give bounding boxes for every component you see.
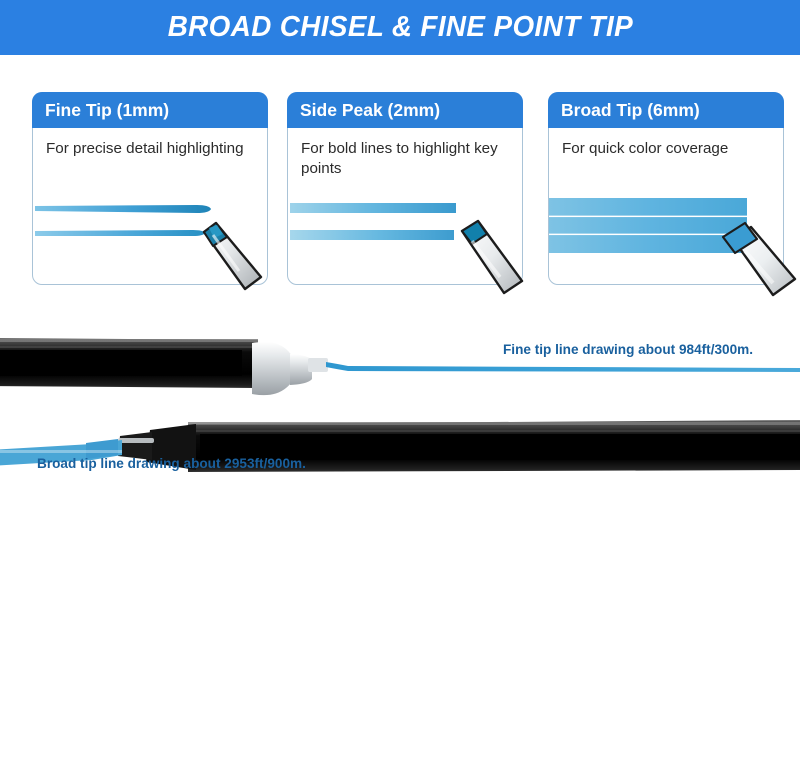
fine-marker-subtext: MADE IN CHINA TWIN MARKER [0, 632, 6, 648]
broad-marker-tip-label: BROAD [478, 752, 513, 762]
card-header-fine-tip: Fine Tip (1mm) [32, 92, 268, 128]
made-in-china-text: MADE IN CHINA [0, 640, 6, 648]
caption-fine-tip: Fine tip line drawing about 984ft/300m. [503, 342, 753, 357]
card-title: Broad Tip (6mm) [561, 100, 700, 121]
caption-broad-tip: Broad tip line drawing about 2953ft/900m… [37, 456, 306, 471]
made-in-china-text: MADE IN CHINA [480, 743, 590, 751]
twin-marker-text: TWIN MARKER [0, 632, 6, 640]
broad-tip-glyph-icon [458, 743, 478, 763]
card-description: For precise detail highlighting [46, 139, 258, 159]
card-header-side-peak: Side Peak (2mm) [287, 92, 523, 128]
card-description: For bold lines to highlight key points [301, 139, 513, 179]
page-title: BROAD CHISEL & FINE POINT TIP [167, 11, 632, 44]
card-header-broad-tip: Broad Tip (6mm) [548, 92, 784, 128]
side-peak-stroke-svg [288, 180, 524, 284]
stroke-illustration-fine [33, 180, 269, 284]
stroke-illustration-side-peak [288, 180, 524, 284]
fine-tip-glyph-icon [253, 652, 271, 670]
fine-marker-brand: TOUCH YOUCH YOUCH [50, 655, 228, 672]
fine-stroke-svg [33, 180, 269, 284]
card-title: Fine Tip (1mm) [45, 100, 169, 121]
twin-marker-text: TWIN MARKER [480, 735, 590, 743]
broad-stroke-svg [549, 180, 785, 284]
broad-marker-brand: TOUCH YOUCH YOUCH [612, 743, 790, 760]
stroke-illustration-broad [549, 180, 785, 284]
broad-marker-subtext: MADE IN CHINA TWIN MARKER [480, 735, 590, 751]
card-broad-tip: Broad Tip (6mm) For quick color coverage [548, 92, 784, 285]
card-side-peak: Side Peak (2mm) For bold lines to highli… [287, 92, 523, 285]
header-banner: BROAD CHISEL & FINE POINT TIP [0, 0, 800, 55]
card-fine-tip: Fine Tip (1mm) For precise detail highli… [32, 92, 268, 285]
tip-cards-row: Fine Tip (1mm) For precise detail highli… [0, 92, 800, 292]
card-title: Side Peak (2mm) [300, 100, 440, 121]
card-description: For quick color coverage [562, 139, 774, 159]
fine-marker-tip-label: FINE [230, 662, 252, 672]
